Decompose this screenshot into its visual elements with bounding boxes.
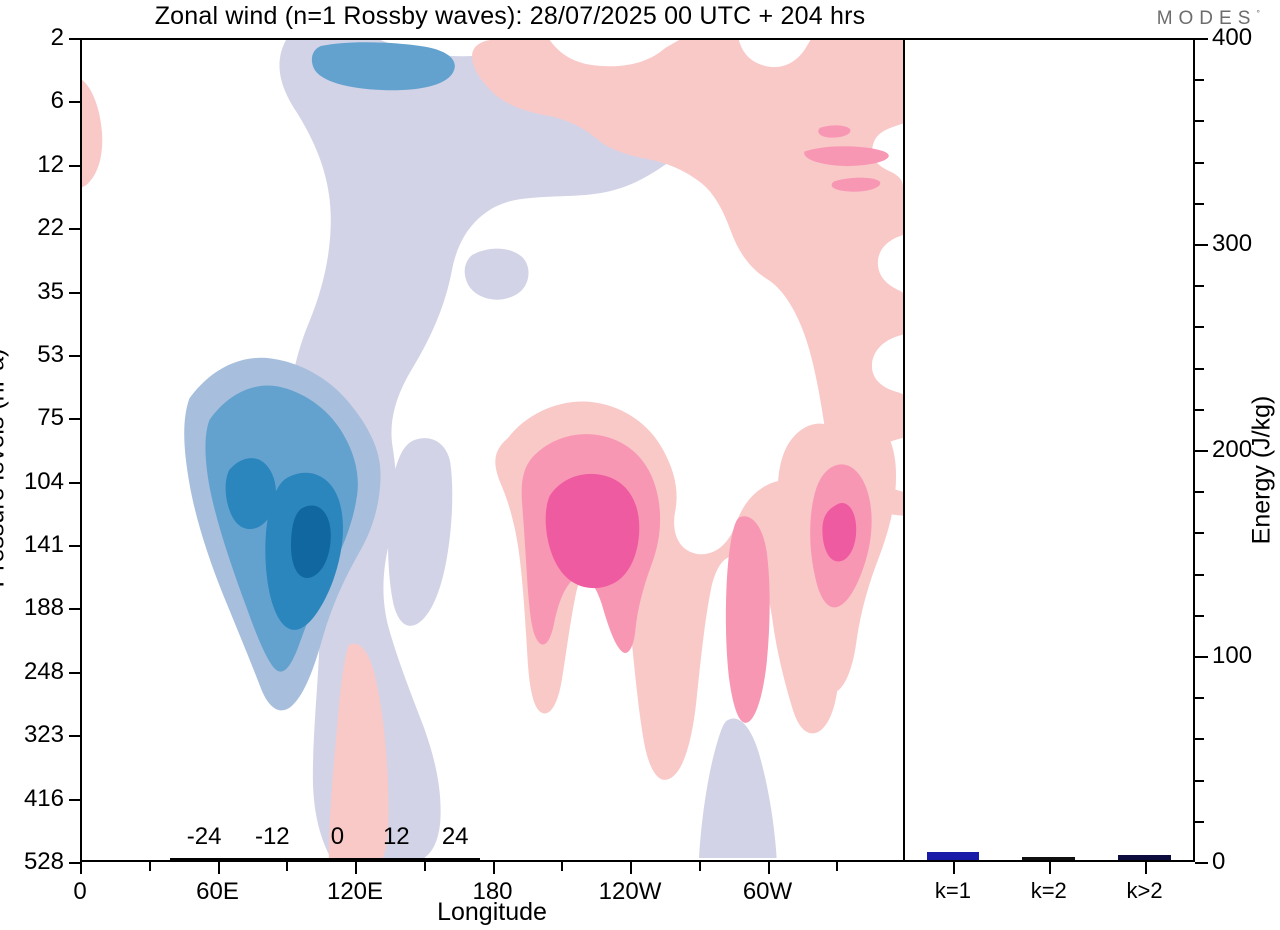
y-tick-9	[69, 608, 80, 610]
contour-pos-8-130w	[726, 516, 770, 723]
right-tick-label-0: 0	[1212, 848, 1225, 876]
right-tick-360	[1195, 120, 1204, 122]
y-tick-label-6: 75	[37, 404, 64, 432]
right-tick-300	[1195, 244, 1208, 246]
page-title: Zonal wind (n=1 Rossby waves): 28/07/202…	[80, 2, 940, 31]
colorbar-label-4: 24	[442, 823, 469, 851]
y-tick-label-2: 12	[37, 151, 64, 179]
y-tick-label-4: 35	[37, 278, 64, 306]
contour-neg-plume-60w	[699, 718, 777, 858]
x-minor-tick-270	[699, 862, 701, 871]
colorbar-swatch-1	[196, 860, 220, 862]
k-tick-0	[953, 862, 955, 874]
x-tick-4	[630, 862, 632, 874]
y-tick-label-1: 6	[51, 87, 64, 115]
colorbar-label-1: -12	[255, 823, 290, 851]
colorbar-swatch-0	[172, 860, 196, 862]
x-minor-tick-30	[149, 862, 151, 871]
k-label-0: k=1	[935, 878, 971, 904]
right-tick-220	[1195, 409, 1204, 411]
x-tick-1	[218, 862, 220, 874]
k-tick-2	[1145, 862, 1147, 874]
x-tick-label-4: 120W	[599, 878, 662, 906]
y-tick-label-10: 248	[24, 658, 64, 686]
y-tick-13	[69, 862, 80, 864]
right-tick-80	[1195, 697, 1204, 699]
colorbar-label-2: 0	[331, 823, 344, 851]
y-tick-2	[69, 165, 80, 167]
colorbar-swatch-6	[313, 860, 337, 862]
right-tick-label-4: 400	[1212, 24, 1252, 52]
k-label-1: k=2	[1031, 878, 1067, 904]
y-tick-4	[69, 292, 80, 294]
contour-pos-left-sliver	[82, 80, 102, 187]
x-tick-label-0: 0	[73, 878, 86, 906]
y-tick-label-5: 53	[37, 341, 64, 369]
right-tick-200	[1195, 450, 1208, 452]
y-tick-5	[69, 355, 80, 357]
right-tick-400	[1195, 38, 1208, 40]
y-tick-10	[69, 672, 80, 674]
colorbar-swatch-11	[431, 860, 455, 862]
right-tick-140	[1195, 574, 1204, 576]
right-tick-label-1: 100	[1212, 642, 1252, 670]
right-tick-60	[1195, 738, 1204, 740]
y-tick-label-8: 141	[24, 531, 64, 559]
right-axis-label: Energy (J/kg)	[1248, 396, 1277, 545]
right-tick-180	[1195, 491, 1204, 493]
x-axis-label: Longitude	[437, 898, 547, 927]
y-tick-label-3: 22	[37, 214, 64, 242]
energy-bar-panel	[905, 38, 1195, 862]
y-tick-label-9: 188	[24, 594, 64, 622]
contour-neg-blob-mid	[465, 249, 529, 300]
energy-bar-k2	[1118, 855, 1171, 860]
modes-logo-mark: °	[1256, 9, 1260, 19]
colorbar-swatch-8	[360, 860, 384, 862]
right-tick-280	[1195, 285, 1204, 287]
x-minor-tick-330	[836, 862, 838, 871]
x-minor-tick-90	[286, 862, 288, 871]
x-minor-tick-150	[424, 862, 426, 871]
y-tick-label-11: 323	[24, 721, 64, 749]
contour-neg-strip-150e	[388, 438, 452, 626]
colorbar-labels: -24 -12 0 12 24	[170, 823, 480, 851]
right-tick-0	[1195, 862, 1208, 864]
right-tick-100	[1195, 656, 1208, 658]
colorbar-swatch-2	[219, 860, 243, 862]
y-tick-label-7: 104	[24, 468, 64, 496]
zonal-wind-contour-panel: -24 -12 0 12 24	[80, 38, 905, 862]
colorbar	[170, 858, 480, 862]
contour-field	[82, 40, 903, 860]
right-tick-20	[1195, 821, 1204, 823]
y-tick-label-13: 528	[24, 848, 64, 876]
right-tick-340	[1195, 162, 1204, 164]
y-tick-label-12: 416	[24, 785, 64, 813]
x-tick-label-1: 60E	[196, 878, 239, 906]
right-tick-label-2: 200	[1212, 436, 1252, 464]
colorbar-swatch-10	[407, 860, 431, 862]
x-tick-5	[768, 862, 770, 874]
y-tick-11	[69, 735, 80, 737]
right-tick-40	[1195, 780, 1204, 782]
colorbar-label-0: -24	[187, 823, 222, 851]
colorbar-swatch-12	[454, 860, 478, 862]
colorbar-swatch-3	[243, 860, 267, 862]
y-tick-label-0: 2	[51, 24, 64, 52]
right-tick-160	[1195, 532, 1204, 534]
right-tick-240	[1195, 368, 1204, 370]
k-tick-1	[1049, 862, 1051, 874]
colorbar-swatch-9	[384, 860, 408, 862]
right-tick-label-3: 300	[1212, 230, 1252, 258]
right-tick-260	[1195, 326, 1204, 328]
y-tick-0	[69, 38, 80, 40]
right-tick-320	[1195, 203, 1204, 205]
x-minor-tick-210	[561, 862, 563, 871]
y-tick-8	[69, 545, 80, 547]
k-label-2: k>2	[1127, 878, 1163, 904]
y-axis-label: Pressure levels (hPa)	[0, 349, 11, 588]
right-tick-380	[1195, 79, 1204, 81]
x-tick-label-2: 120E	[327, 878, 383, 906]
y-tick-3	[69, 228, 80, 230]
y-tick-7	[69, 482, 80, 484]
energy-bar-k1	[927, 852, 980, 860]
x-tick-2	[355, 862, 357, 874]
x-tick-3	[493, 862, 495, 874]
energy-bar-k2	[1022, 857, 1075, 860]
y-tick-6	[69, 418, 80, 420]
right-tick-120	[1195, 615, 1204, 617]
colorbar-swatch-5	[290, 860, 314, 862]
y-tick-12	[69, 799, 80, 801]
x-tick-label-5: 60W	[743, 878, 792, 906]
colorbar-label-3: 12	[383, 823, 410, 851]
y-tick-1	[69, 101, 80, 103]
x-tick-0	[80, 862, 82, 874]
